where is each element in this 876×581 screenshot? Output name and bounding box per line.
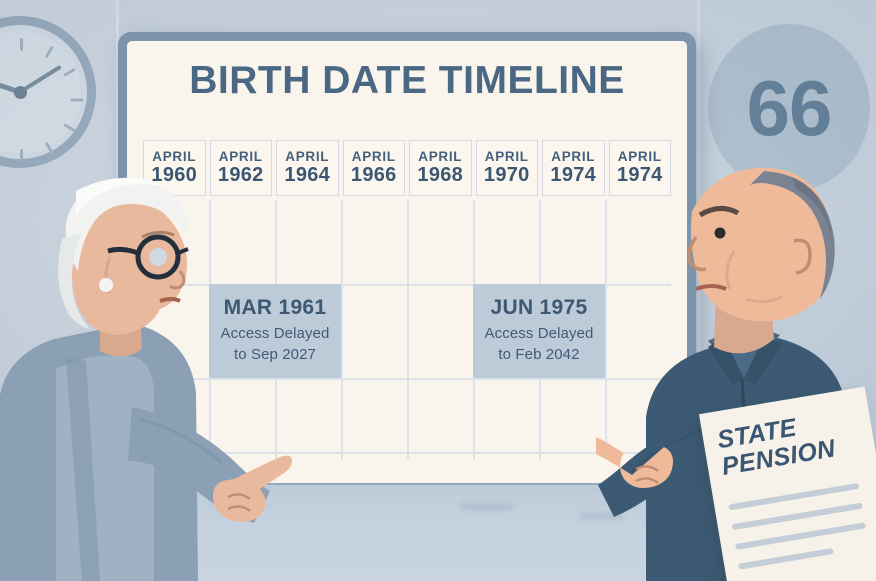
card-line-2: to Feb 2042 [498,345,579,365]
column-header-4[interactable]: APRIL 1968 [409,140,472,196]
illustration-scene: 66 BIRTH DATE TIMELINE APRIL 1960 APRIL … [0,0,876,581]
column-month: APRIL [418,149,462,164]
column-header-3[interactable]: APRIL 1966 [343,140,406,196]
page-title: BIRTH DATE TIMELINE [127,61,687,100]
card-line-1: Access Delayed [485,324,594,344]
card-headline: JUN 1975 [491,297,588,318]
column-month: APRIL [551,149,595,164]
column-year: 1974 [550,164,596,186]
timeline-card-1[interactable]: JUN 1975 Access Delayed to Feb 2042 [473,284,605,378]
document-title: STATE PENSION [715,403,870,480]
column-year: 1968 [417,164,463,186]
grid-vline [407,200,409,459]
column-header-5[interactable]: APRIL 1970 [476,140,539,196]
state-pension-document-icon[interactable]: STATE PENSION [699,386,876,581]
column-year: 1970 [484,164,530,186]
column-year: 1966 [351,164,397,186]
document-text-line [738,548,834,570]
column-month: APRIL [485,149,529,164]
elderly-woman-pointing-icon [0,161,292,581]
column-month: APRIL [352,149,396,164]
grid-vline [341,200,343,459]
